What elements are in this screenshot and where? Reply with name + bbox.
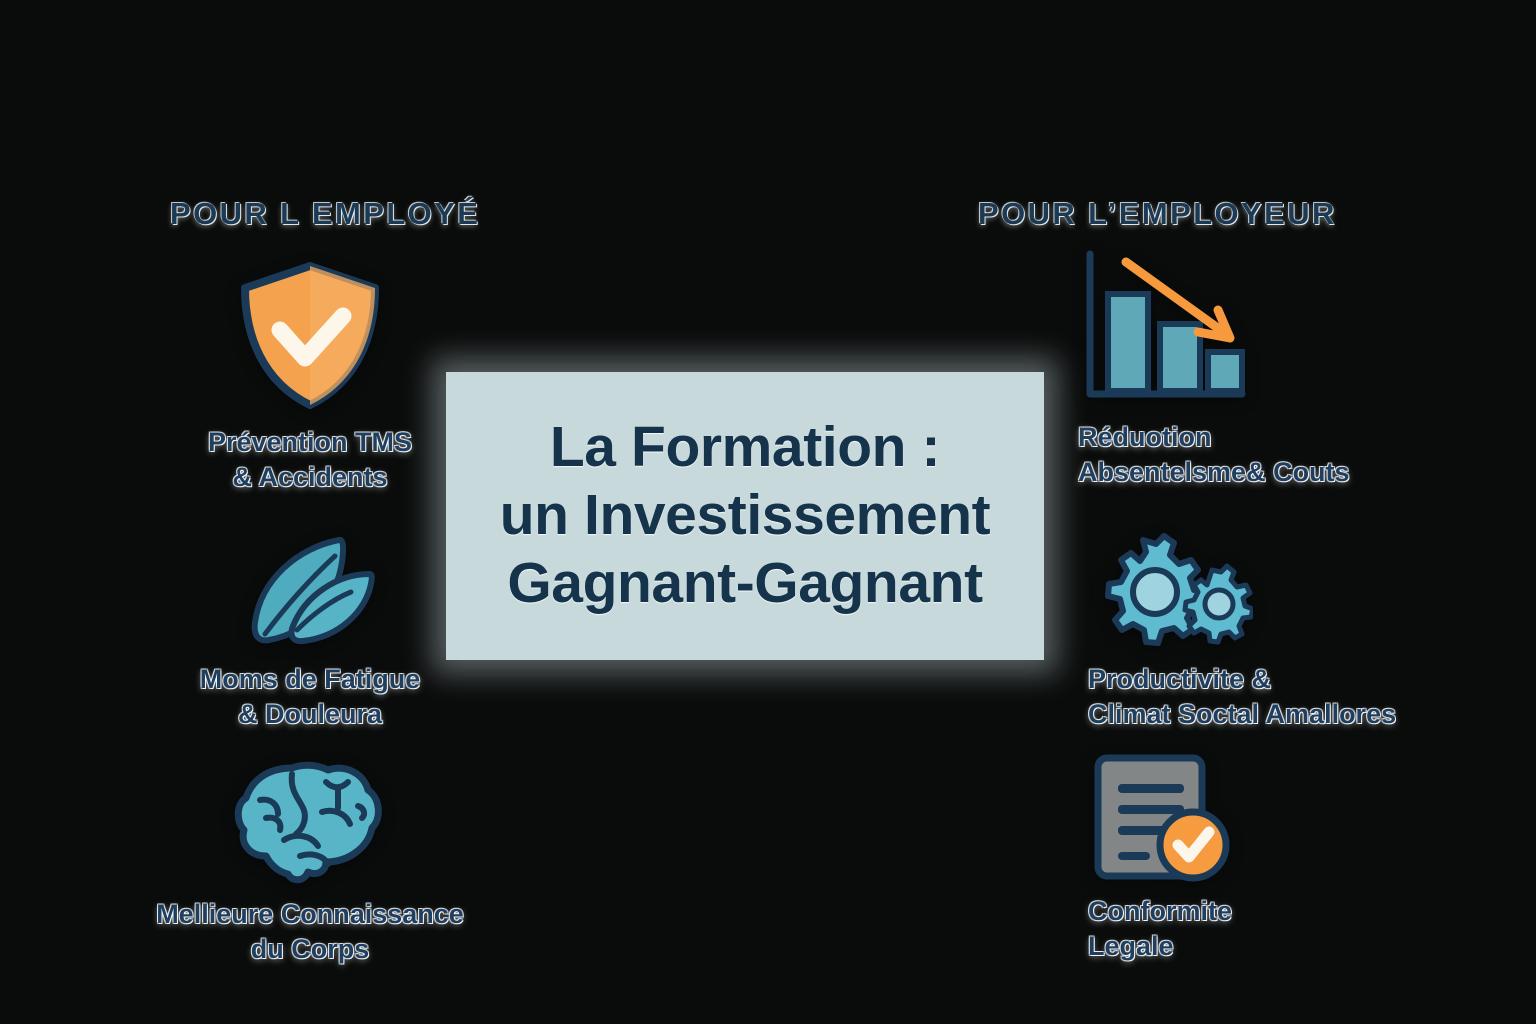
benefit-label-prevention: Prévention TMS & Accidents <box>208 425 412 495</box>
column-header-employeur: POUR L’EMPLOYEUR <box>978 196 1337 232</box>
benefit-label-conformite: Conformite Legale <box>1088 894 1232 964</box>
benefit-label-connaissance: Mellieure Connaissance du Corps <box>156 897 464 967</box>
title-line-1: La Formation : <box>550 414 940 482</box>
benefit-label-fatigue: Moms de Fatigue & Douleura <box>200 662 421 732</box>
title-line-3: Gagnant-Gagnant <box>507 550 982 618</box>
gears-icon <box>1088 530 1253 650</box>
benefit-item-productivite: Productivite & Climat Soctal Amallores <box>1088 530 1488 732</box>
title-line-2: un Investissement <box>500 482 991 550</box>
brain-icon <box>230 760 390 885</box>
benefit-label-productivite: Productivite & Climat Soctal Amallores <box>1088 662 1396 732</box>
document-check-icon <box>1088 752 1238 882</box>
benefit-item-prevention: Prévention TMS & Accidents <box>140 258 480 495</box>
bar-chart-down-icon <box>1078 248 1253 408</box>
column-header-employe: POUR L EMPLOYÉ <box>170 196 480 232</box>
benefit-item-fatigue: Moms de Fatigue & Douleura <box>140 530 480 732</box>
title-card: La Formation : un Investissement Gagnant… <box>446 372 1044 660</box>
benefit-item-conformite: Conformite Legale <box>1088 752 1488 964</box>
infographic-poster: POUR L EMPLOYÉ POUR L’EMPLOYEUR Préventi… <box>0 0 1536 1024</box>
benefit-item-connaissance: Mellieure Connaissance du Corps <box>120 760 500 967</box>
leaf-icon <box>235 530 385 650</box>
benefit-item-reduction: Réduotion Absentelsme& Couts <box>1078 248 1478 490</box>
shield-check-icon <box>235 258 385 413</box>
benefit-label-reduction: Réduotion Absentelsme& Couts <box>1078 420 1350 490</box>
